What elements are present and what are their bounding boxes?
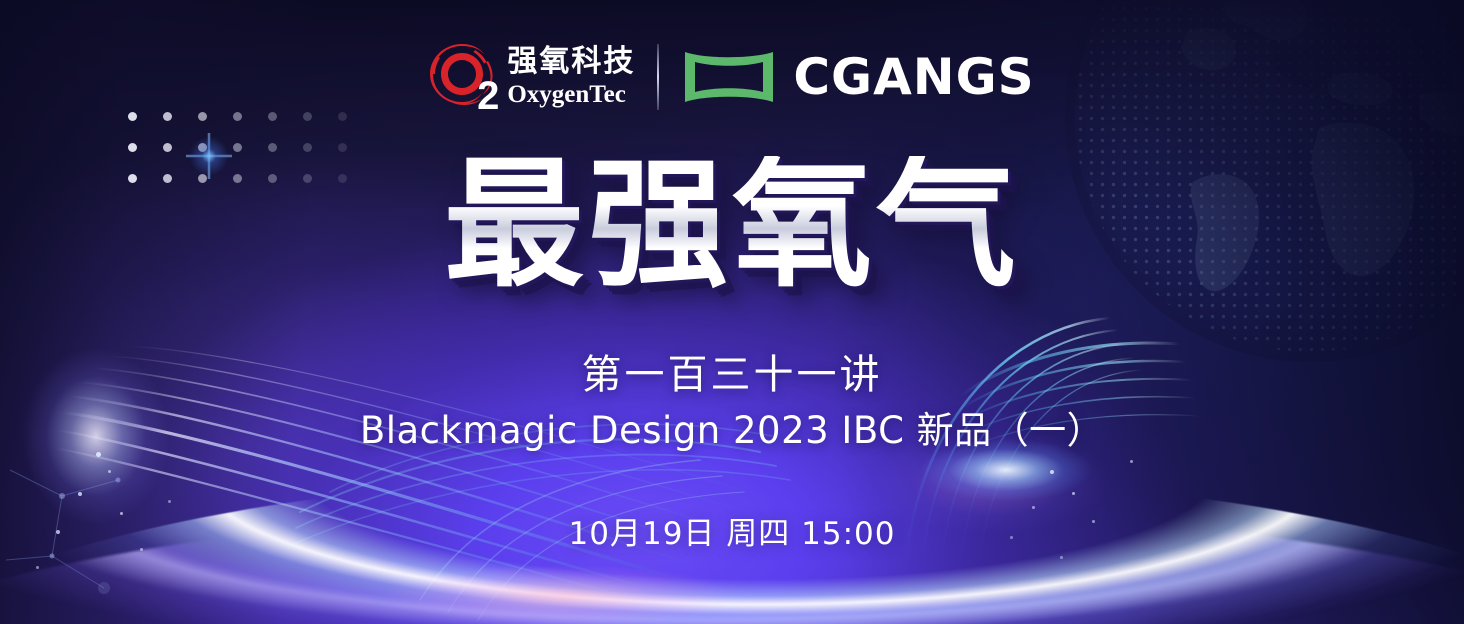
dot-grid-row bbox=[128, 112, 347, 121]
oxygentec-wordmark: 强氧科技 OxygenTec bbox=[507, 47, 635, 107]
dot-grid-row bbox=[128, 143, 347, 152]
cgangs-wordmark: CGANGS bbox=[793, 52, 1034, 102]
oxygentec-logo: 2 强氧科技 OxygenTec bbox=[429, 42, 635, 112]
lecture-number: 第一百三十一讲 bbox=[0, 342, 1464, 400]
lecture-topic: Blackmagic Design 2023 IBC 新品（一） bbox=[0, 400, 1464, 454]
o2-brush-ring-logo: 2 bbox=[429, 42, 495, 112]
oxygentec-chinese-name: 强氧科技 bbox=[507, 47, 635, 77]
o2-subscript: 2 bbox=[477, 76, 499, 116]
schedule-datetime: 10月19日 周四 15:00 bbox=[0, 508, 1464, 553]
page-title: 最强氧气 bbox=[0, 156, 1464, 296]
promo-banner: 2 强氧科技 OxygenTec CGANGS 最强氧气 第一百三十一讲 Bla… bbox=[0, 0, 1464, 624]
oxygentec-english-name: OxygenTec bbox=[507, 82, 626, 107]
logo-bar: 2 强氧科技 OxygenTec CGANGS bbox=[0, 42, 1464, 112]
cgangs-bowtie-logo bbox=[681, 50, 777, 104]
logo-divider bbox=[657, 44, 659, 110]
cgangs-logo: CGANGS bbox=[681, 50, 1034, 104]
